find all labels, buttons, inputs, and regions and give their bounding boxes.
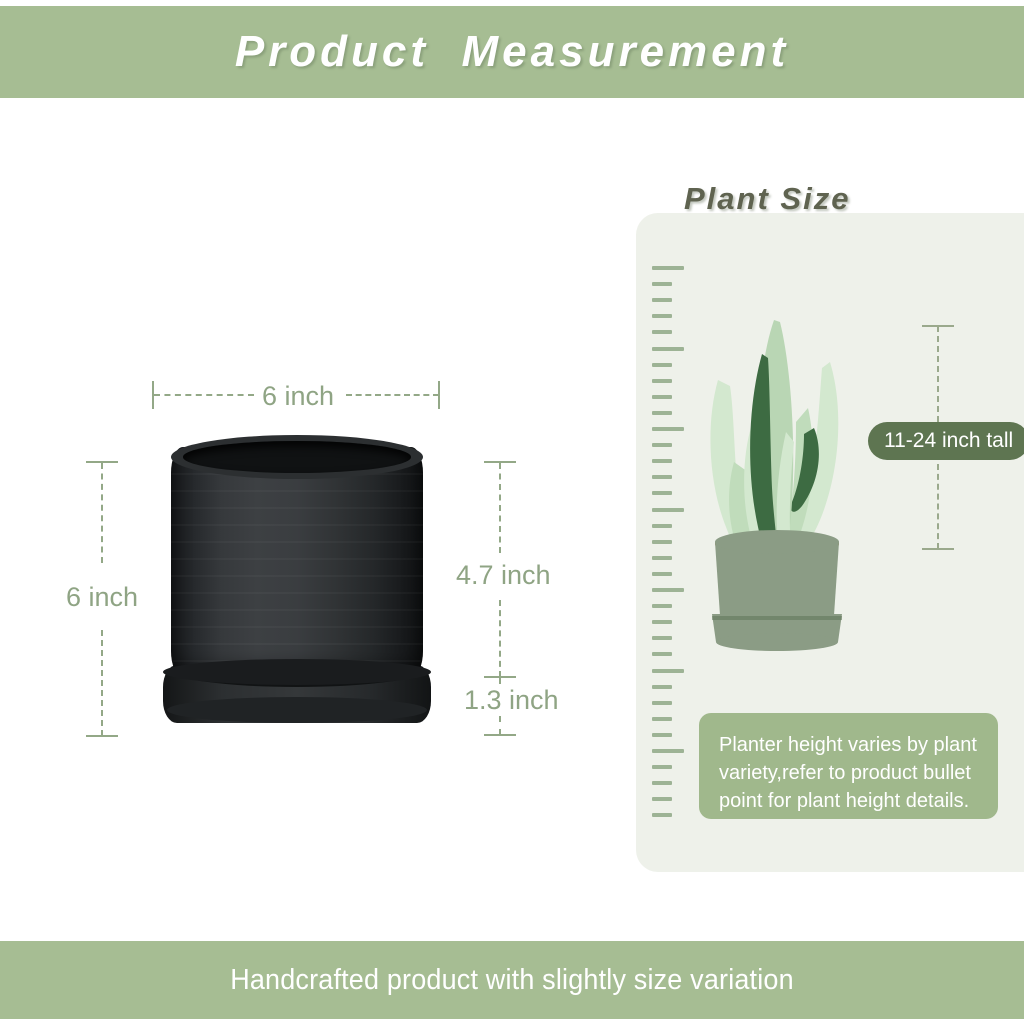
ruler-tick-minor [652, 701, 672, 705]
footer-band: Handcrafted product with slightly size v… [0, 941, 1024, 1019]
callout-line-lower [937, 464, 939, 549]
page-title: Product Measurement [235, 27, 789, 77]
header-band: Product Measurement [0, 6, 1024, 98]
height-dimension-line-upper [101, 463, 103, 563]
ruler-tick-minor [652, 298, 672, 302]
ruler-tick-minor [652, 620, 672, 624]
planter-rib-texture [171, 473, 423, 677]
ruler-tick-minor [652, 797, 672, 801]
plant-height-callout: 11-24 inch tall [860, 312, 1024, 562]
callout-cap-bottom [922, 548, 954, 550]
plant-height-note-text: Planter height varies by plant variety,r… [719, 731, 978, 815]
height-dimension-line-lower [101, 630, 103, 736]
ruler-tick-minor [652, 636, 672, 640]
vertical-ruler [652, 266, 692, 828]
ruler-tick-major [652, 427, 684, 431]
ruler-tick-major [652, 508, 684, 512]
width-dimension-line-right [346, 394, 439, 396]
ruler-tick-minor [652, 459, 672, 463]
pot-height-line-lower [499, 600, 501, 677]
ruler-tick-minor [652, 411, 672, 415]
saucer-height-label: 1.3 inch [458, 685, 565, 716]
plant-height-badge: 11-24 inch tall [868, 422, 1024, 460]
ruler-tick-major [652, 749, 684, 753]
ruler-tick-minor [652, 491, 672, 495]
saucer-top-rim [163, 659, 431, 685]
ruler-tick-major [652, 669, 684, 673]
ruler-tick-minor [652, 363, 672, 367]
ruler-tick-minor [652, 475, 672, 479]
ruler-tick-minor [652, 524, 672, 528]
ruler-tick-minor [652, 733, 672, 737]
ruler-tick-minor [652, 556, 672, 560]
snake-plant-illustration [690, 312, 865, 652]
ruler-tick-minor [652, 395, 672, 399]
product-photo-planter [163, 447, 431, 733]
ruler-tick-minor [652, 314, 672, 318]
width-dimension-line-left [154, 394, 254, 396]
callout-line-upper [937, 326, 939, 422]
ruler-tick-minor [652, 443, 672, 447]
ruler-tick-minor [652, 813, 672, 817]
ruler-tick-minor [652, 282, 672, 286]
plant-height-note-box: Planter height varies by plant variety,r… [699, 713, 998, 819]
saucer-bottom-edge [167, 697, 427, 723]
saucer-height-line-lower [499, 716, 501, 735]
planter-inner-cavity [183, 441, 411, 473]
ruler-tick-minor [652, 540, 672, 544]
plant-size-heading: Plant Size [684, 181, 850, 217]
ruler-tick-minor [652, 685, 672, 689]
ruler-tick-minor [652, 572, 672, 576]
ruler-tick-minor [652, 379, 672, 383]
pot-height-label: 4.7 inch [450, 560, 557, 591]
product-measurement-infographic: Product Measurement 6 inch 6 inch 4.7 in… [0, 0, 1024, 1023]
width-dimension-label: 6 inch [256, 381, 340, 412]
total-height-label: 6 inch [60, 582, 144, 613]
ruler-tick-minor [652, 330, 672, 334]
ruler-tick-major [652, 266, 684, 270]
ruler-tick-major [652, 347, 684, 351]
ruler-tick-minor [652, 652, 672, 656]
ruler-tick-minor [652, 717, 672, 721]
footer-caption: Handcrafted product with slightly size v… [230, 964, 794, 997]
ruler-tick-minor [652, 781, 672, 785]
ruler-tick-minor [652, 604, 672, 608]
ruler-tick-major [652, 588, 684, 592]
ruler-tick-minor [652, 765, 672, 769]
pot-height-line-upper [499, 463, 501, 553]
